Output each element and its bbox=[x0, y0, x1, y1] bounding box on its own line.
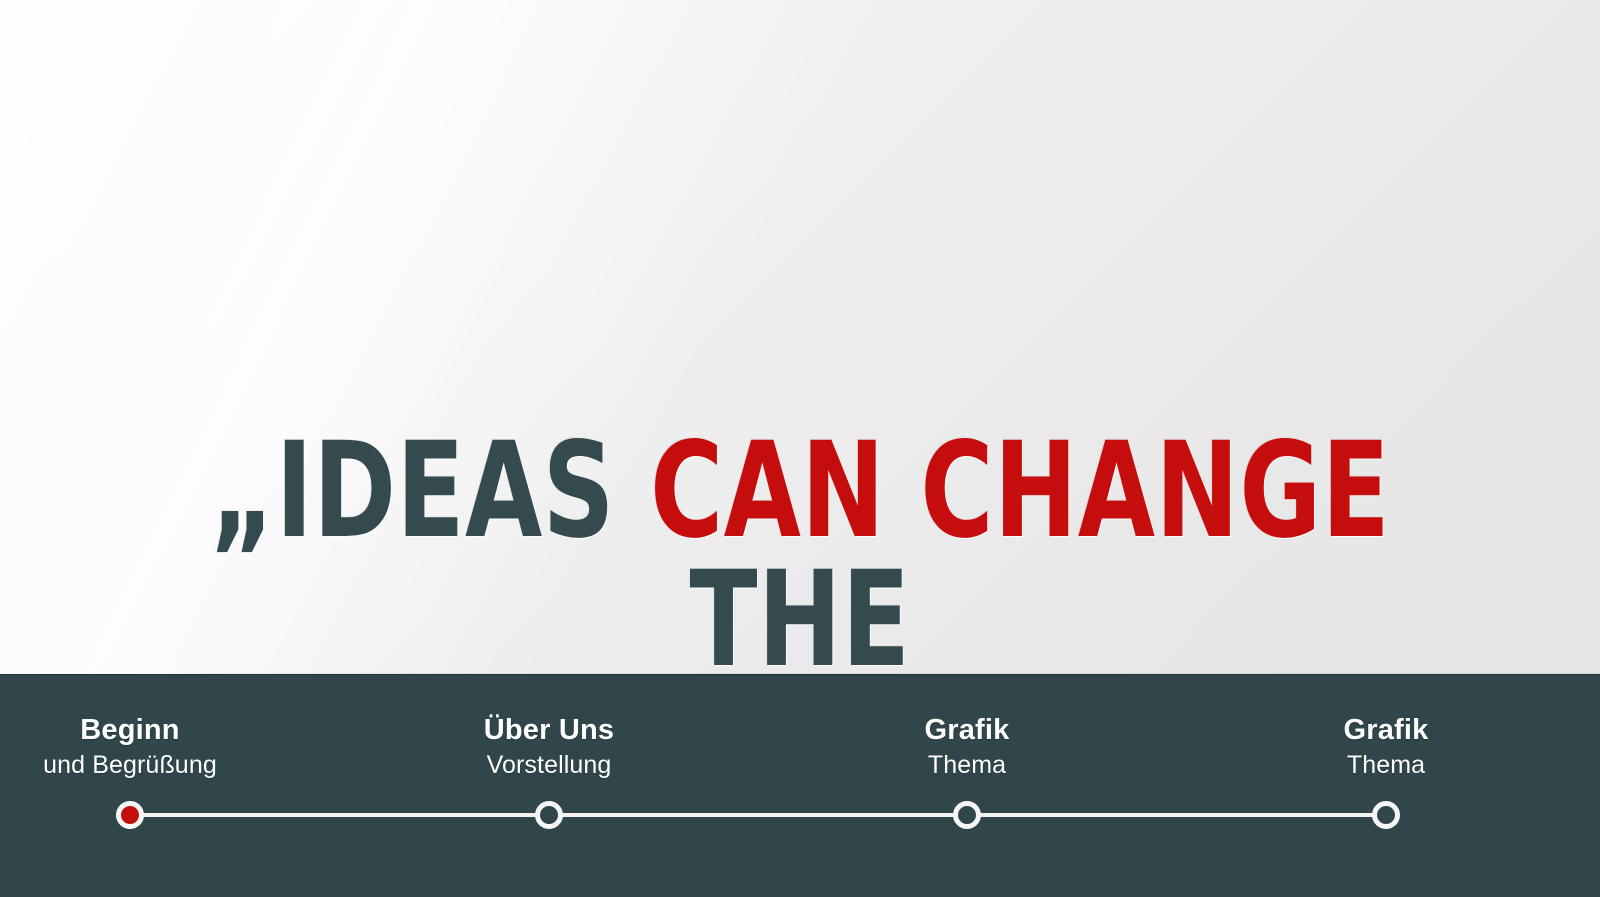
headline-text-leading: „IDEAS bbox=[210, 414, 650, 568]
headline-quote: „IDEAS CAN CHANGE THE WORLD“ bbox=[128, 168, 1472, 897]
presentation-slide: „IDEAS CAN CHANGE THE WORLD“ Beginn und … bbox=[0, 0, 1600, 897]
headline-line-1: „IDEAS CAN CHANGE THE bbox=[128, 427, 1472, 686]
